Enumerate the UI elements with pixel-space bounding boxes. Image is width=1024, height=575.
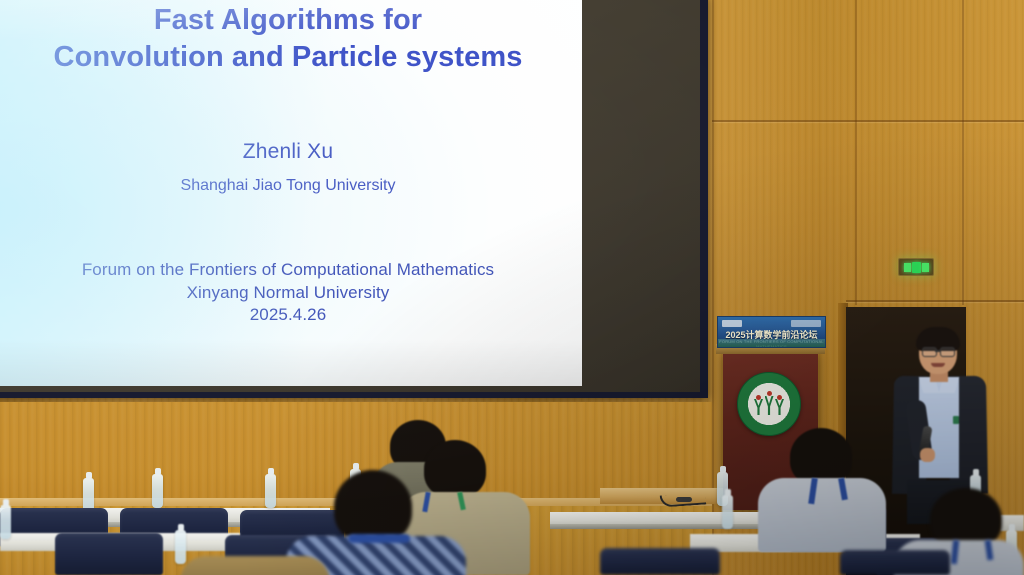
slide-affiliation: Shanghai Jiao Tong University (0, 177, 582, 195)
slide-forum-name: Forum on the Frontiers of Computational … (0, 259, 582, 282)
exit-sign-bar (922, 263, 929, 272)
speaker-glasses-left-lens (922, 347, 937, 357)
slide-forum-block: Forum on the Frontiers of Computational … (0, 259, 582, 327)
emblem-dot (756, 395, 761, 400)
wall-seam-vertical (962, 0, 964, 305)
water-bottle (83, 478, 94, 512)
speaker-glasses-right-lens (940, 347, 955, 357)
emblem-figure (765, 396, 774, 415)
wall-seam (846, 300, 1024, 302)
emblem-figures (754, 393, 784, 415)
audience-torso (180, 556, 330, 575)
water-bottle (265, 474, 276, 508)
speaker-hand (920, 448, 935, 462)
banner-logo-right (791, 320, 821, 327)
exit-icon (898, 258, 934, 276)
university-emblem-icon (737, 372, 801, 436)
water-bottle (152, 474, 163, 508)
chair (600, 548, 720, 575)
audience-torso (758, 478, 886, 552)
emblem-dot (777, 395, 782, 400)
audience-head (424, 440, 486, 498)
presentation-slide: Fast Algorithms for Convolution and Part… (0, 0, 582, 386)
microphone-icon (676, 497, 692, 502)
conference-room-photo: Fast Algorithms for Convolution and Part… (0, 0, 1024, 575)
speaker-mouth (931, 363, 945, 367)
slide-title-line1: Fast Algorithms for (154, 4, 422, 36)
emblem-figure (754, 399, 763, 415)
water-bottle (722, 495, 733, 529)
speaker-lapel-badge (953, 416, 959, 424)
slide-author: Zhenli Xu (0, 140, 582, 164)
chair (55, 533, 163, 575)
banner-hill-graphic (718, 339, 825, 347)
water-bottle (175, 530, 186, 564)
slide-forum-host: Xinyang Normal University (0, 282, 582, 305)
podium-banner: 2025计算数学前沿论坛 FORUM ON THE FRONTIERS OF C… (717, 316, 826, 348)
audience-head (334, 470, 412, 544)
water-bottle (0, 505, 11, 539)
projection-screen-frame: Fast Algorithms for Convolution and Part… (0, 0, 708, 398)
emblem-figure (775, 399, 784, 415)
slide-title: Fast Algorithms for Convolution and Part… (0, 2, 582, 76)
banner-logo-left (722, 320, 742, 327)
exit-sign-bar (904, 263, 911, 272)
wall-seam-vertical (855, 0, 857, 305)
slide-title-line2: Convolution and Particle systems (0, 39, 582, 76)
slide-forum-date: 2025.4.26 (0, 304, 582, 327)
emblem-dot (767, 391, 772, 396)
lanyard (348, 534, 410, 543)
speaker-glasses-bridge (935, 350, 940, 352)
wall-seam (712, 120, 1024, 122)
exit-running-man-glyph (912, 262, 921, 273)
chair (840, 550, 950, 575)
